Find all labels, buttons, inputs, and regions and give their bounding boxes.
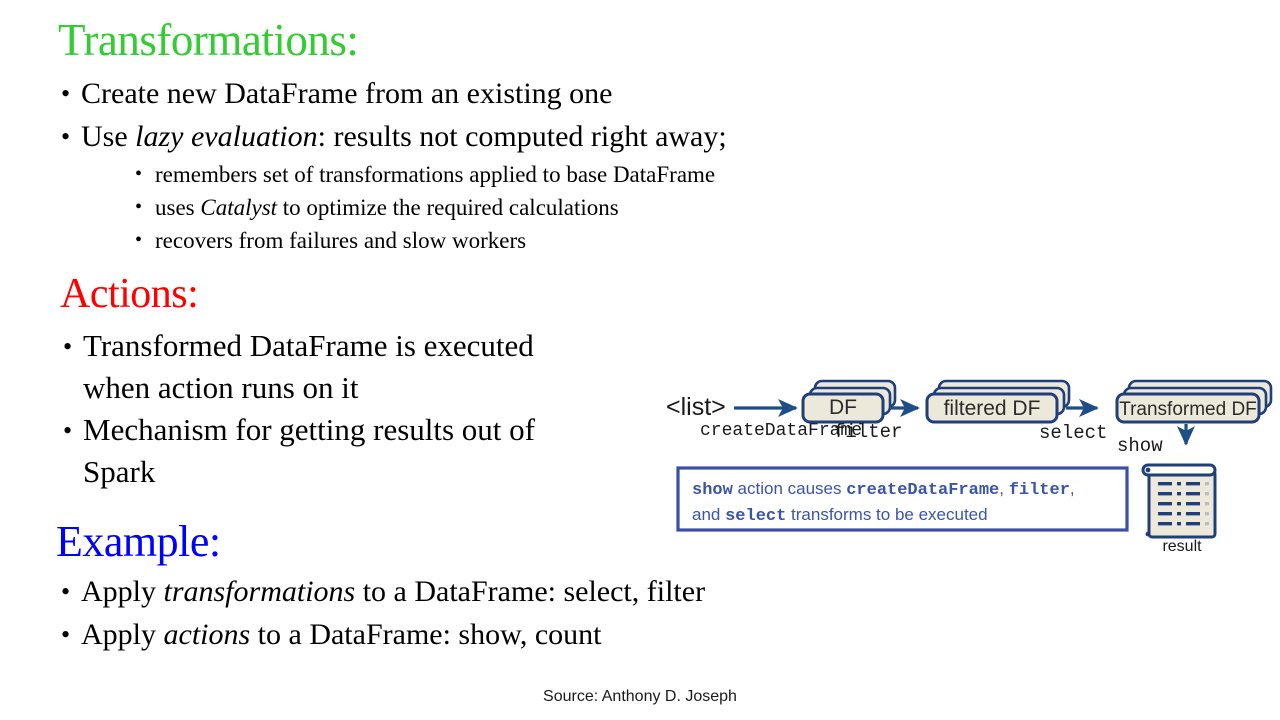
edge-label-show: show xyxy=(1117,435,1163,457)
sub-bullet-text-emphasis: Catalyst xyxy=(200,195,277,220)
sub-bullet-catalyst: uses Catalyst to optimize the required c… xyxy=(133,191,1018,224)
edge-label-filter: filter xyxy=(834,421,902,443)
bullet-lazy-evaluation: Use lazy evaluation: results not compute… xyxy=(58,115,1018,257)
sub-bullet-text: recovers from failures and slow workers xyxy=(155,228,526,253)
callout-line-1: show action causes createDataFrame, filt… xyxy=(692,479,1075,500)
sub-bullet-text-pre: uses xyxy=(155,195,200,220)
bullet-line-1: Transformed DataFrame is executed xyxy=(83,325,680,367)
sub-bullet-remembers: remembers set of transformations applied… xyxy=(133,158,1018,191)
bullet-text-post: : results not computed right away; xyxy=(318,120,727,153)
example-bullet-list: Apply transformations to a DataFrame: se… xyxy=(58,570,958,656)
bullet-mechanism-results: Mechanism for getting results out of Spa… xyxy=(60,409,680,493)
sub-bullet-text: remembers set of transformations applied… xyxy=(155,162,715,187)
slide-content: Transformations: Create new DataFrame fr… xyxy=(0,0,1280,720)
bullet-line-1: Mechanism for getting results out of xyxy=(83,409,680,451)
bullet-text-post: to a DataFrame: show, count xyxy=(250,618,601,651)
heading-transformations: Transformations: xyxy=(58,14,358,66)
heading-example: Example: xyxy=(56,516,221,567)
lazy-evaluation-sub-list: remembers set of transformations applied… xyxy=(81,158,1018,257)
result-label: result xyxy=(1162,538,1202,553)
node-df-stack: DF xyxy=(803,381,895,422)
node-label-transformed-df: Transformed DF xyxy=(1119,399,1257,420)
edge-label-select: select xyxy=(1039,422,1107,444)
bullet-text-pre: Apply xyxy=(81,618,164,651)
diagram-source-label: <list> xyxy=(666,393,726,421)
source-attribution: Source: Anthony D. Joseph xyxy=(0,688,1280,706)
callout-line-2: and select transforms to be executed xyxy=(692,505,988,526)
bullet-text-pre: Apply xyxy=(81,575,164,608)
dataframe-flow-diagram: <list> createDataFrame DF filter filtere… xyxy=(662,358,1276,553)
bullet-text-pre: Use xyxy=(81,120,135,153)
bullet-text-emphasis: transformations xyxy=(164,575,356,608)
bullet-apply-actions: Apply actions to a DataFrame: show, coun… xyxy=(58,613,958,656)
bullet-text-emphasis: actions xyxy=(164,618,251,651)
heading-actions: Actions: xyxy=(60,270,198,318)
bullet-transformed-executed: Transformed DataFrame is executed when a… xyxy=(60,325,680,409)
transformations-bullet-list: Create new DataFrame from an existing on… xyxy=(58,72,1018,257)
result-document-icon: result xyxy=(1143,465,1215,553)
node-label-df: DF xyxy=(829,396,857,419)
actions-bullet-list: Transformed DataFrame is executed when a… xyxy=(60,325,680,493)
node-filtered-df-stack: filtered DF xyxy=(927,381,1069,422)
node-transformed-df-stack: Transformed DF xyxy=(1117,381,1271,422)
bullet-line-2: when action runs on it xyxy=(83,367,680,409)
bullet-apply-transformations: Apply transformations to a DataFrame: se… xyxy=(58,570,958,613)
bullet-text-post: to a DataFrame: select, filter xyxy=(355,575,705,608)
sub-bullet-text-post: to optimize the required calculations xyxy=(277,195,619,220)
bullet-line-2: Spark xyxy=(83,451,680,493)
bullet-create-dataframe: Create new DataFrame from an existing on… xyxy=(58,72,1018,115)
callout-box: show action causes createDataFrame, filt… xyxy=(678,468,1127,530)
node-label-filtered-df: filtered DF xyxy=(944,397,1041,420)
sub-bullet-recovers: recovers from failures and slow workers xyxy=(133,224,1018,257)
bullet-text: Create new DataFrame from an existing on… xyxy=(81,77,612,110)
bullet-text-emphasis: lazy evaluation xyxy=(135,120,317,153)
